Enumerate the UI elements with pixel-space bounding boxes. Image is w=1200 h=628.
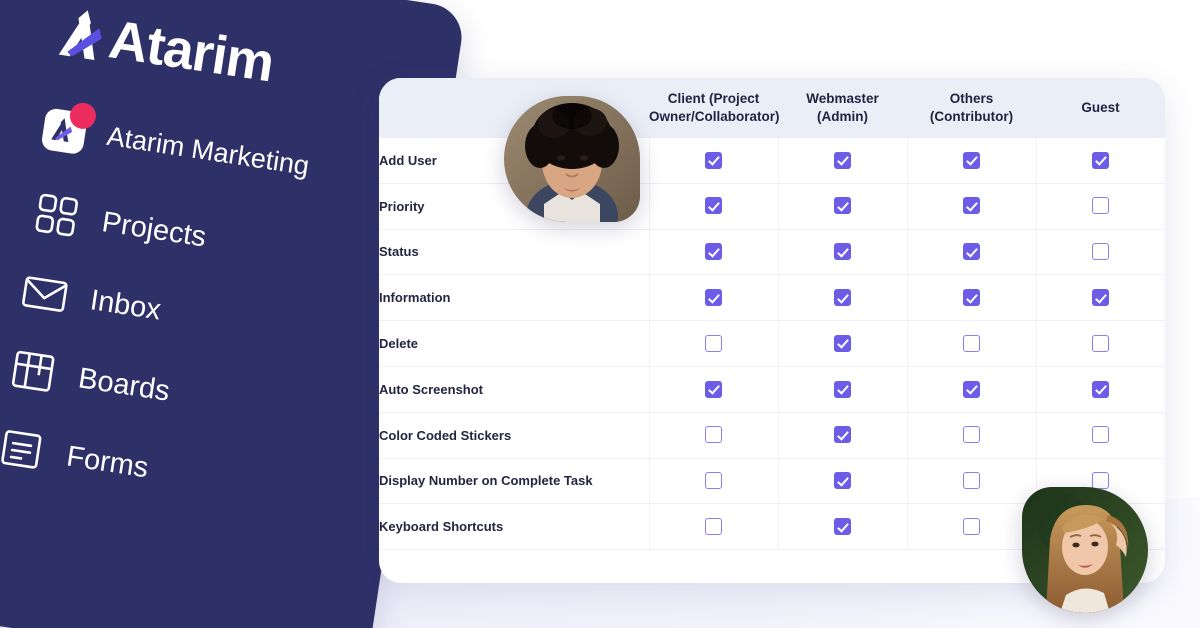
checkbox-unchecked-icon[interactable] <box>705 518 722 535</box>
permission-cell[interactable] <box>778 321 907 367</box>
sidebar-item-label: Projects <box>100 206 209 254</box>
checkbox-checked-icon[interactable] <box>1092 289 1109 306</box>
permission-cell[interactable] <box>649 366 778 412</box>
permission-cell[interactable] <box>778 275 907 321</box>
column-header-guest: Guest <box>1036 78 1165 138</box>
permission-cell[interactable] <box>907 412 1036 458</box>
table-row: Status <box>379 229 1165 275</box>
column-header-line: (Contributor) <box>930 109 1013 124</box>
row-label: Status <box>379 229 649 275</box>
permission-cell[interactable] <box>1036 321 1165 367</box>
permission-cell[interactable] <box>907 229 1036 275</box>
checkbox-unchecked-icon[interactable] <box>963 426 980 443</box>
sidebar-item-label: Boards <box>76 362 172 408</box>
checkbox-unchecked-icon[interactable] <box>963 518 980 535</box>
permission-cell[interactable] <box>907 183 1036 229</box>
checkbox-checked-icon[interactable] <box>963 152 980 169</box>
column-header-webmaster: Webmaster (Admin) <box>778 78 907 138</box>
avatar-long-hair-person <box>1022 487 1148 613</box>
permission-cell[interactable] <box>907 504 1036 550</box>
permission-cell[interactable] <box>778 366 907 412</box>
checkbox-checked-icon[interactable] <box>834 243 851 260</box>
checkbox-unchecked-icon[interactable] <box>1092 335 1109 352</box>
row-label: Information <box>379 275 649 321</box>
sidebar-project-label: Atarim Marketing <box>105 120 311 181</box>
checkbox-unchecked-icon[interactable] <box>963 472 980 489</box>
permission-cell[interactable] <box>907 138 1036 183</box>
permission-cell[interactable] <box>1036 229 1165 275</box>
checkbox-unchecked-icon[interactable] <box>705 472 722 489</box>
checkbox-unchecked-icon[interactable] <box>963 335 980 352</box>
column-header-line: (Admin) <box>817 109 868 124</box>
checkbox-checked-icon[interactable] <box>705 381 722 398</box>
checkbox-checked-icon[interactable] <box>834 381 851 398</box>
permission-cell[interactable] <box>649 504 778 550</box>
checkbox-checked-icon[interactable] <box>1092 381 1109 398</box>
permission-cell[interactable] <box>778 229 907 275</box>
grid-squares-icon <box>28 188 86 241</box>
checkbox-checked-icon[interactable] <box>834 289 851 306</box>
permission-cell[interactable] <box>649 275 778 321</box>
permission-cell[interactable] <box>1036 275 1165 321</box>
checkbox-checked-icon[interactable] <box>963 289 980 306</box>
checkbox-checked-icon[interactable] <box>705 289 722 306</box>
permissions-table: Client (Project Owner/Collaborator) Webm… <box>379 78 1165 550</box>
table-row: Priority <box>379 183 1165 229</box>
sidebar-item-label: Inbox <box>88 284 163 327</box>
row-label: Auto Screenshot <box>379 366 649 412</box>
checkbox-checked-icon[interactable] <box>1092 152 1109 169</box>
permission-cell[interactable] <box>1036 366 1165 412</box>
row-label: Keyboard Shortcuts <box>379 504 649 550</box>
permission-cell[interactable] <box>778 183 907 229</box>
checkbox-checked-icon[interactable] <box>963 381 980 398</box>
column-header-line: Guest <box>1081 100 1119 115</box>
sidebar-item-label: Forms <box>64 440 150 485</box>
screenshot-stage: Atarim Atarim Marketing <box>0 0 1200 628</box>
checkbox-checked-icon[interactable] <box>705 152 722 169</box>
permission-cell[interactable] <box>1036 183 1165 229</box>
checkbox-unchecked-icon[interactable] <box>705 426 722 443</box>
atarim-a-mark-icon <box>54 5 119 67</box>
checkbox-unchecked-icon[interactable] <box>705 335 722 352</box>
table-row: Add User <box>379 138 1165 183</box>
permission-cell[interactable] <box>778 458 907 504</box>
row-label: Display Number on Complete Task <box>379 458 649 504</box>
atarim-app-icon <box>40 103 92 155</box>
permission-cell[interactable] <box>1036 412 1165 458</box>
checkbox-checked-icon[interactable] <box>705 197 722 214</box>
checkbox-checked-icon[interactable] <box>705 243 722 260</box>
permission-cell[interactable] <box>649 229 778 275</box>
permission-cell[interactable] <box>778 138 907 183</box>
permission-cell[interactable] <box>649 458 778 504</box>
permission-cell[interactable] <box>649 138 778 183</box>
avatar-curly-hair-person <box>504 96 640 222</box>
permission-cell[interactable] <box>649 412 778 458</box>
checkbox-checked-icon[interactable] <box>834 197 851 214</box>
table-row: Information <box>379 275 1165 321</box>
column-header-line: Owner/Collaborator) <box>649 109 780 124</box>
checkbox-checked-icon[interactable] <box>963 243 980 260</box>
column-header-client: Client (Project Owner/Collaborator) <box>649 78 778 138</box>
checkbox-unchecked-icon[interactable] <box>1092 472 1109 489</box>
checkbox-checked-icon[interactable] <box>834 426 851 443</box>
permission-cell[interactable] <box>907 321 1036 367</box>
form-document-icon <box>0 423 50 476</box>
table-row: Delete <box>379 321 1165 367</box>
envelope-icon <box>16 267 74 320</box>
table-row: Auto Screenshot <box>379 366 1165 412</box>
permission-cell[interactable] <box>1036 138 1165 183</box>
brand-logo-text: Atarim <box>106 12 277 90</box>
checkbox-checked-icon[interactable] <box>834 152 851 169</box>
checkbox-unchecked-icon[interactable] <box>1092 197 1109 214</box>
table-header-row: Client (Project Owner/Collaborator) Webm… <box>379 78 1165 138</box>
column-header-others: Others (Contributor) <box>907 78 1036 138</box>
permission-cell[interactable] <box>649 321 778 367</box>
permission-cell[interactable] <box>778 412 907 458</box>
checkbox-checked-icon[interactable] <box>834 335 851 352</box>
column-header-line: Webmaster <box>806 91 879 106</box>
checkbox-checked-icon[interactable] <box>963 197 980 214</box>
row-label: Delete <box>379 321 649 367</box>
checkbox-unchecked-icon[interactable] <box>1092 426 1109 443</box>
checkbox-checked-icon[interactable] <box>834 518 851 535</box>
kanban-board-icon <box>4 345 62 398</box>
permission-cell[interactable] <box>907 458 1036 504</box>
checkbox-unchecked-icon[interactable] <box>1092 243 1109 260</box>
column-header-line: Others <box>950 91 994 106</box>
permission-cell[interactable] <box>907 275 1036 321</box>
permission-cell[interactable] <box>907 366 1036 412</box>
column-header-line: Client (Project <box>668 91 760 106</box>
permission-cell[interactable] <box>649 183 778 229</box>
table-header: Client (Project Owner/Collaborator) Webm… <box>379 78 1165 138</box>
table-row: Color Coded Stickers <box>379 412 1165 458</box>
row-label: Color Coded Stickers <box>379 412 649 458</box>
permission-cell[interactable] <box>778 504 907 550</box>
checkbox-checked-icon[interactable] <box>834 472 851 489</box>
